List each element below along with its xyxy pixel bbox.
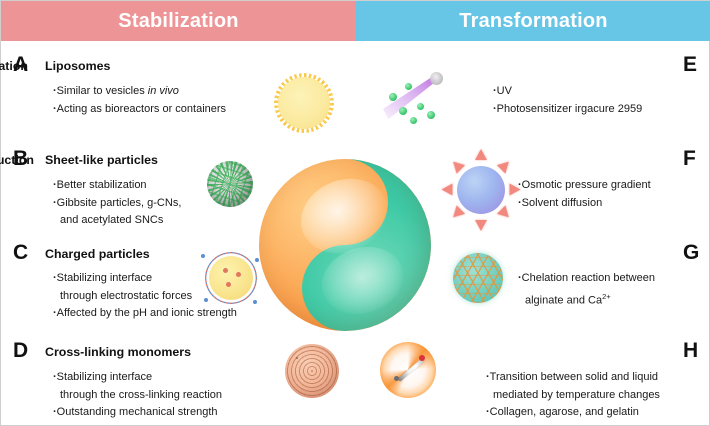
panel-e-letter: E [683, 54, 697, 75]
liposome-icon [278, 77, 330, 129]
panel-g-bullet-1-cont: alginate and Ca2+ [518, 288, 655, 310]
sheet-like-particle-icon [207, 161, 253, 207]
panel-g-bullet-1-cont-text: alginate and Ca [525, 294, 602, 306]
panel-h-bullets: Transition between solid and liquid medi… [486, 369, 660, 422]
panel-c-letter: C [13, 242, 28, 263]
panel-h-bullet-1: Transition between solid and liquid [486, 369, 660, 387]
sphere-shading [259, 159, 431, 331]
panel-b-bullets: Better stabilization Gibbsite particles,… [53, 177, 181, 230]
panel-b-bullet-2: Gibbsite particles, g-CNs, [53, 195, 181, 213]
panel-a-bullet-1-text: Similar to vesicles [57, 85, 148, 97]
panel-e-bullet-1: UV [493, 83, 642, 101]
panel-f-title: Osmosis induction [0, 153, 34, 167]
panel-a-bullets: Similar to vesicles in vivo Acting as bi… [53, 83, 226, 118]
panel-g-letter: G [683, 242, 699, 263]
panel-a-bullet-1: Similar to vesicles in vivo [53, 83, 226, 101]
panel-f-letter: F [683, 148, 696, 169]
panel-b-title: Sheet-like particles [45, 153, 158, 167]
panel-h-letter: H [683, 340, 698, 361]
osmosis-icon [442, 151, 520, 229]
panel-f-bullet-1: Osmotic pressure gradient [518, 177, 651, 195]
panel-b-bullet-1: Better stabilization [53, 177, 181, 195]
panel-g-bullet-1: Chelation reaction between [518, 270, 655, 288]
header-title-right: Transformation [459, 10, 607, 33]
panel-d-bullet-1: Stabilizing interface [53, 369, 222, 387]
panel-g-bullets: Chelation reaction between alginate and … [518, 270, 655, 310]
panel-g-superscript: 2+ [602, 292, 611, 301]
panel-h-bullet-1-cont: mediated by temperature changes [486, 387, 660, 405]
panel-d-bullets: Stabilizing interface through the cross-… [53, 369, 222, 422]
panel-a-bullet-2: Acting as bioreactors or containers [53, 101, 226, 119]
thermal-induction-icon [380, 342, 436, 398]
central-emulsion-sphere [259, 159, 431, 331]
panel-f-bullet-2: Solvent diffusion [518, 195, 651, 213]
panel-e-bullets: UV Photosensitizer irgacure 2959 [493, 83, 642, 118]
panel-h-bullet-2: Collagen, agarose, and gelatin [486, 404, 660, 422]
cross-linked-network-icon [285, 344, 339, 398]
panel-d-bullet-2: Outstanding mechanical strength [53, 404, 222, 422]
panel-d-title: Cross-linking monomers [45, 345, 191, 359]
uv-light-beam-icon [377, 67, 449, 129]
header-title-left: Stabilization [118, 10, 238, 33]
panel-a-bullet-1-italic: in vivo [148, 85, 179, 97]
header-band-transformation: Transformation [356, 1, 710, 41]
panel-e-bullet-2: Photosensitizer irgacure 2959 [493, 101, 642, 119]
panel-b-bullet-2-cont: and acetylated SNCs [53, 212, 181, 230]
header-bands: Stabilization Transformation [1, 1, 710, 41]
sphere-orange-half [259, 159, 431, 331]
panel-d-bullet-1-cont: through the cross-linking reaction [53, 387, 222, 405]
chelation-network-icon [453, 253, 503, 303]
panel-f: F Osmosis induction Osmotic pressure gra… [1, 1, 79, 79]
panel-d-letter: D [13, 340, 28, 361]
panel-c-title: Charged particles [45, 247, 150, 261]
charged-particle-icon [201, 248, 261, 308]
panel-f-bullets: Osmotic pressure gradient Solvent diffus… [518, 177, 651, 212]
